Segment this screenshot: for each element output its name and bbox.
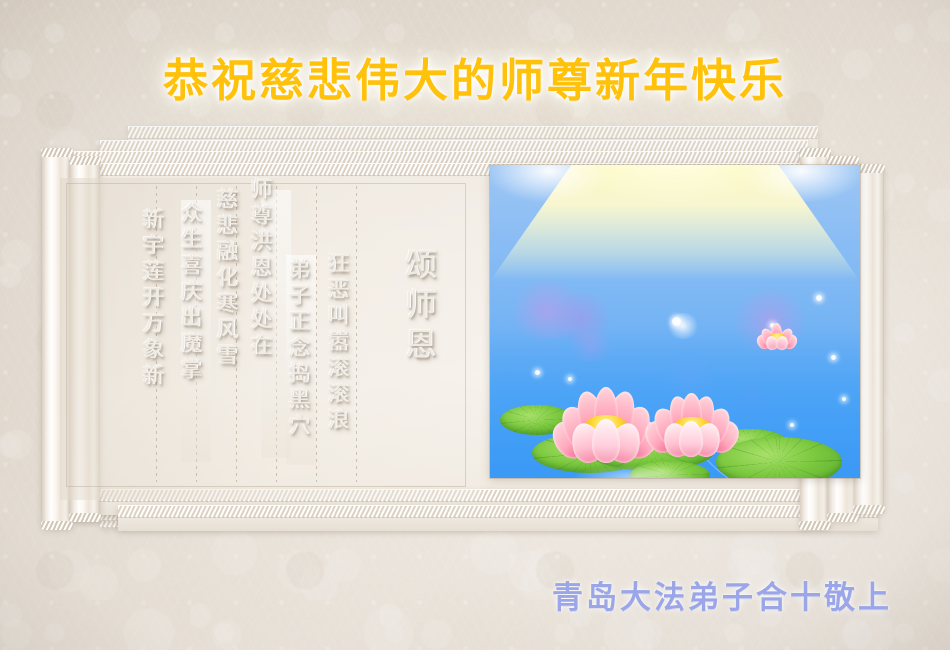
sparkle-icon [568, 377, 572, 381]
sparkle-icon [831, 355, 836, 360]
scroll-band-top [128, 126, 818, 139]
roller-cap-bottom [853, 505, 885, 514]
scroll-assembly: 狂恶叫嚣滚滚浪 弟子正念捣黑穴 师尊洪恩处处在 慈悲融化寒风雪 众生喜庆出魔掌 … [0, 0, 950, 650]
lotus-flower-icon [757, 323, 797, 351]
sparkle-icon [842, 397, 846, 401]
sparkle-icon [816, 295, 822, 301]
lotus-flower-icon [646, 393, 738, 459]
poem-column-guide [316, 186, 317, 482]
scroll-sheet-low-2 [118, 505, 878, 531]
roller-cap-bottom [69, 513, 101, 522]
roller-cap-top [799, 148, 831, 157]
sparkle-icon [535, 370, 540, 375]
sparkle-icon [672, 317, 681, 326]
poem-line-4: 慈悲融化寒风雪 [211, 188, 241, 370]
poem-heading: 颂师恩 [395, 248, 440, 368]
poem-line-6: 新宇莲开万象新 [137, 208, 167, 390]
roller-cap-bottom [41, 521, 73, 530]
roller-cap-top [69, 156, 101, 165]
signature-text: 青岛大法弟子合十敬上 [0, 572, 892, 617]
roller-cap-top [41, 148, 73, 157]
scroll-band-top [118, 505, 878, 518]
roller-cap-bottom [827, 513, 859, 522]
poem-line-1: 狂恶叫嚣滚滚浪 [322, 252, 352, 434]
poem-line-2: 弟子正念捣黑穴 [283, 258, 313, 440]
greeting-card-canvas: 恭祝慈悲伟大的师尊新年快乐 [0, 0, 950, 650]
sparkle-icon [790, 423, 794, 427]
poem-column-guide [356, 186, 357, 482]
roller-cap-bottom [799, 521, 831, 530]
lotus-pond-picture [490, 165, 860, 478]
poem-line-3: 师尊洪恩处处在 [245, 178, 275, 360]
poem-line-5: 众生喜庆出魔掌 [175, 202, 205, 384]
